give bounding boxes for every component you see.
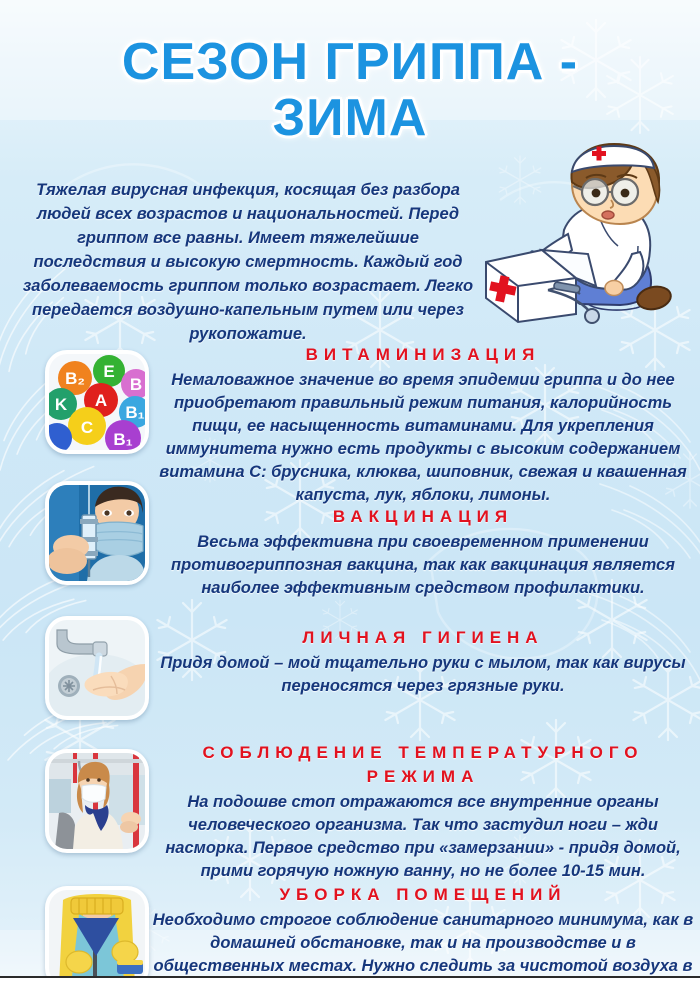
handwashing-icon <box>49 620 145 716</box>
section-heading-vaccination: ВАКЦИНАЦИЯ <box>150 506 696 528</box>
section-text-temperature-regime: На подошве стоп отражаются все внутренни… <box>150 791 696 883</box>
vitamin-pills-icon: B₂ E B K A B₁ C B₁ <box>49 354 145 450</box>
section-body-temperature-regime: СОБЛЮДЕНИЕ ТЕМПЕРАТУРНОГО РЕЖИМА На подо… <box>150 742 696 883</box>
section-body-vaccination: ВАКЦИНАЦИЯ Весьма эффективна при своевре… <box>150 506 696 600</box>
section-heading-vitaminization: ВИТАМИНИЗАЦИЯ <box>150 344 696 366</box>
thumb-masked-woman-bus <box>45 749 149 853</box>
cleaning-woman-icon <box>49 890 145 986</box>
page-title: СЕЗОН ГРИППА - ЗИМА <box>0 34 700 146</box>
cartoon-doctor-icon <box>468 138 696 343</box>
svg-text:E: E <box>103 362 114 381</box>
svg-text:A: A <box>95 391 107 410</box>
title-line-1: СЕЗОН ГРИППА - <box>0 34 700 90</box>
thumb-handwashing <box>45 616 149 720</box>
thumb-vitamin-pills: B₂ E B K A B₁ C B₁ <box>45 350 149 454</box>
thumb-cleaning-woman <box>45 886 149 990</box>
svg-text:B₁: B₁ <box>125 403 144 422</box>
intro-paragraph: Тяжелая вирусная инфекция, косящая без р… <box>22 178 474 346</box>
section-body-personal-hygiene: ЛИЧНАЯ ГИГИЕНА Придя домой – мой тщатель… <box>150 627 696 698</box>
svg-text:B₂: B₂ <box>65 369 85 388</box>
section-text-personal-hygiene: Придя домой – мой тщательно руки с мылом… <box>150 652 696 698</box>
svg-text:K: K <box>55 395 68 414</box>
bottom-divider <box>0 976 700 998</box>
section-heading-temperature-regime: СОБЛЮДЕНИЕ ТЕМПЕРАТУРНОГО <box>150 742 696 763</box>
svg-text:B: B <box>130 375 142 394</box>
nurse-with-syringe-icon <box>49 485 145 581</box>
section-heading-premises-cleaning: УБОРКА ПОМЕЩЕНИЙ <box>150 884 696 906</box>
section-heading-personal-hygiene: ЛИЧНАЯ ГИГИЕНА <box>150 627 696 649</box>
masked-woman-in-bus-icon <box>49 753 145 849</box>
section-heading-temperature-regime-line2: РЕЖИМА <box>150 766 696 787</box>
section-body-vitaminization: ВИТАМИНИЗАЦИЯ Немаловажное значение во в… <box>150 344 696 507</box>
thumb-nurse-syringe <box>45 481 149 585</box>
flu-season-poster: СЕЗОН ГРИППА - ЗИМА Тяжелая вирусная инф… <box>0 0 700 998</box>
svg-text:B₁: B₁ <box>113 430 132 449</box>
section-text-vaccination: Весьма эффективна при своевременном прим… <box>150 531 696 600</box>
section-text-vitaminization: Немаловажное значение во время эпидемии … <box>150 369 696 507</box>
svg-text:C: C <box>81 418 93 437</box>
